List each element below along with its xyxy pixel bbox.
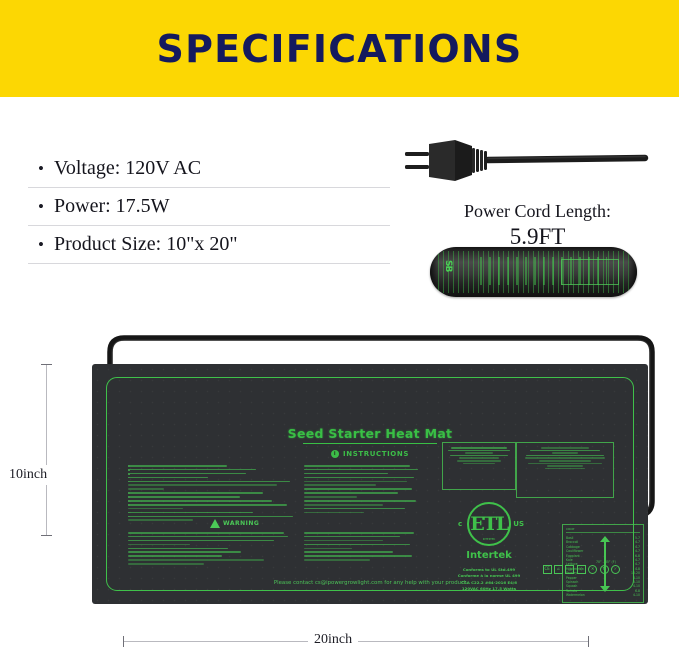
- etl-ring-sub: INTERTEK: [483, 538, 495, 541]
- warning-column-right: [304, 532, 424, 563]
- instructions-label: INSTRUCTIONS: [343, 450, 409, 458]
- model-box-french: [516, 442, 614, 498]
- heat-mat-body: Seed Starter Heat Mat i INSTRUCTIONS: [92, 364, 648, 604]
- two-prong-plug-icon: [400, 134, 675, 204]
- recycle-icon: ↻: [600, 565, 609, 574]
- etl-canada-mark: c: [458, 520, 462, 528]
- instructions-column-left: [128, 465, 290, 523]
- spec-power: Power: 17.5W: [54, 195, 170, 218]
- crop-days: 10-20: [630, 571, 640, 575]
- conformance-line-4: 120VAC 60Hz 17.5 Watts: [444, 586, 534, 592]
- bullet-icon: •: [28, 198, 54, 215]
- rolled-mat-image: SB: [430, 247, 637, 297]
- spec-list: • Voltage: 120V AC • Power: 17.5W • Prod…: [28, 150, 390, 264]
- mat-title: Seed Starter Heat Mat: [92, 426, 648, 441]
- rolled-mat-badge: SB: [444, 260, 453, 282]
- germination-chart: CROP Basil Broccoli Cabbage Cauliflower …: [562, 524, 644, 603]
- model-box-french-text: [521, 447, 609, 469]
- cord-length-block: Power Cord Length: 5.9FT: [400, 200, 675, 251]
- etl-ring-icon: ETL INTERTEK c US: [467, 502, 511, 546]
- specifications-header: SPECIFICATIONS: [0, 0, 679, 97]
- instructions-heading: i INSTRUCTIONS: [331, 450, 409, 458]
- spec-row-size: • Product Size: 10"x 20": [28, 226, 390, 264]
- contact-text: Please contact cs@ipowergrowlight.com fo…: [92, 580, 648, 586]
- label-icon: CE: [543, 565, 552, 574]
- bullet-icon: •: [28, 160, 54, 177]
- house-icon: ⌂: [554, 565, 563, 574]
- spec-voltage: Voltage: 120V AC: [54, 157, 201, 180]
- compliance-symbols: CE ⌂ △ ◇ ✕ ↻ ✓: [543, 565, 620, 574]
- check-circle-icon: ✓: [611, 565, 620, 574]
- germination-col-crop: CROP: [566, 527, 574, 531]
- warning-label: WARNING: [223, 520, 259, 527]
- warning-triangle-icon: [210, 519, 220, 528]
- rolled-mat-label-box: [561, 259, 619, 285]
- germination-days-values: 5-7 4-7 4-7 4-7 6-8 4-7 4-7 4-8 10-20 8-…: [630, 536, 640, 598]
- heat-mat-illustration: Seed Starter Heat Mat i INSTRUCTIONS: [62, 330, 662, 620]
- info-icon: i: [331, 450, 339, 458]
- model-box-english: [442, 442, 516, 490]
- warning-heading: WARNING: [210, 519, 259, 528]
- page-title: SPECIFICATIONS: [157, 27, 523, 71]
- diamond-icon: ◇: [577, 565, 586, 574]
- warning-text-block: [128, 532, 290, 567]
- instructions-column-right: [304, 465, 424, 516]
- model-box-english-text: [447, 447, 511, 464]
- width-dimension-label: 20inch: [308, 631, 358, 649]
- spec-row-power: • Power: 17.5W: [28, 188, 390, 226]
- mat-title-underline: [303, 443, 437, 444]
- temperature-range-label: 70° - 85° (F): [596, 560, 616, 564]
- height-dimension-label: 10inch: [6, 465, 50, 485]
- etl-us-mark: US: [513, 520, 524, 528]
- power-cord-illustration: [400, 134, 675, 204]
- spec-row-voltage: • Voltage: 120V AC: [28, 150, 390, 188]
- cord-length-label: Power Cord Length:: [400, 200, 675, 223]
- crop-name: Watermelon: [566, 593, 592, 597]
- germination-chart-header: CROP: [566, 527, 640, 533]
- bullet-icon: •: [28, 236, 54, 253]
- no-wash-icon: ✕: [588, 565, 597, 574]
- spec-product-size: Product Size: 10"x 20": [54, 233, 238, 256]
- triangle-icon: △: [565, 565, 574, 574]
- intertek-label: Intertek: [444, 550, 534, 561]
- height-dimension-line: [46, 364, 47, 536]
- crop-days: 4-10: [630, 593, 640, 597]
